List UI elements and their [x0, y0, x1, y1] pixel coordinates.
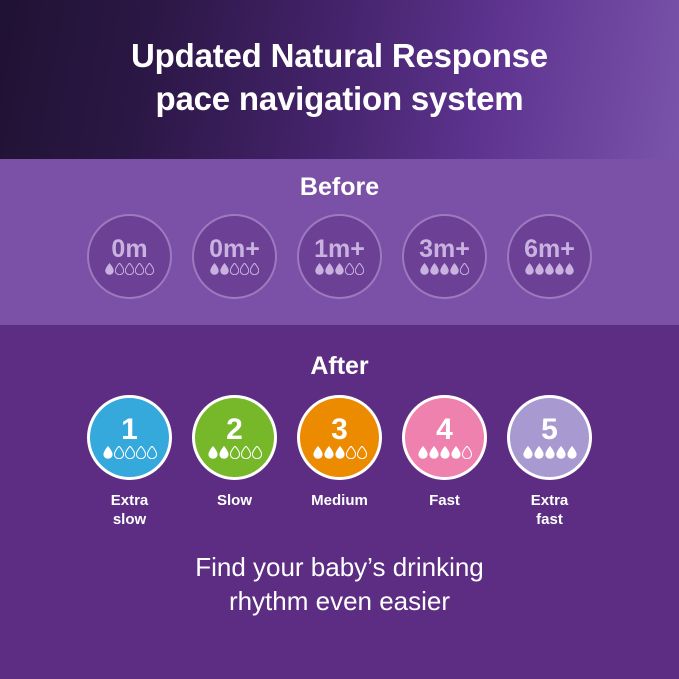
droplet-rating [105, 263, 154, 275]
after-item-label-line-1: Medium [311, 491, 368, 510]
after-item-label-line-1: Fast [429, 491, 460, 510]
droplet-filled-icon [418, 446, 428, 459]
droplet-filled-icon [335, 446, 345, 459]
droplet-outline-icon [462, 446, 472, 459]
droplet-rating [103, 446, 157, 459]
droplet-filled-icon [103, 446, 113, 459]
before-circle: 0m [87, 214, 172, 299]
droplet-filled-icon [565, 263, 574, 275]
before-age-label: 0m [111, 236, 147, 262]
droplet-outline-icon [114, 446, 124, 459]
footer-tagline-line-2: rhythm even easier [0, 584, 679, 618]
droplet-outline-icon [230, 446, 240, 459]
after-circle: 5 [507, 395, 592, 480]
after-item-label-line-1: Slow [217, 491, 252, 510]
droplet-outline-icon [355, 263, 364, 275]
after-step-number: 5 [541, 415, 558, 445]
droplet-filled-icon [324, 446, 334, 459]
before-section-title: Before [0, 173, 679, 202]
droplet-rating [210, 263, 259, 275]
before-circle: 0m+ [192, 214, 277, 299]
before-age-label: 0m+ [209, 236, 260, 262]
page-title-line-2: pace navigation system [0, 77, 679, 120]
droplet-filled-icon [525, 263, 534, 275]
droplet-outline-icon [460, 263, 469, 275]
droplet-outline-icon [252, 446, 262, 459]
before-age-label: 6m+ [524, 236, 575, 262]
after-circle: 4 [402, 395, 487, 480]
after-section: After 1Extraslow2Slow3Medium4Fast5Extraf… [0, 325, 679, 679]
droplet-outline-icon [147, 446, 157, 459]
before-item: 6m+ [507, 214, 592, 299]
page-title-line-1: Updated Natural Response [0, 34, 679, 77]
before-circle: 1m+ [297, 214, 382, 299]
droplet-filled-icon [440, 446, 450, 459]
before-age-label: 3m+ [419, 236, 470, 262]
droplet-filled-icon [429, 446, 439, 459]
droplet-filled-icon [208, 446, 218, 459]
before-item: 0m [87, 214, 172, 299]
after-item-label: Extraslow [111, 491, 149, 529]
droplet-filled-icon [219, 446, 229, 459]
droplet-filled-icon [523, 446, 533, 459]
after-step-number: 4 [436, 415, 453, 445]
droplet-filled-icon [105, 263, 114, 275]
footer-tagline-line-1: Find your baby’s drinking [0, 550, 679, 584]
before-item: 0m+ [192, 214, 277, 299]
droplet-outline-icon [250, 263, 259, 275]
before-circle: 6m+ [507, 214, 592, 299]
droplet-filled-icon [220, 263, 229, 275]
droplet-outline-icon [346, 446, 356, 459]
before-items-row: 0m0m+1m+3m+6m+ [0, 214, 679, 299]
header-banner: Updated Natural Response pace navigation… [0, 0, 679, 159]
droplet-filled-icon [534, 446, 544, 459]
after-item: 3Medium [297, 395, 382, 510]
page-title: Updated Natural Response pace navigation… [0, 34, 679, 120]
after-step-number: 1 [121, 415, 138, 445]
after-item-label: Slow [217, 491, 252, 510]
after-circle: 2 [192, 395, 277, 480]
droplet-outline-icon [136, 446, 146, 459]
droplet-rating [315, 263, 364, 275]
after-item-label-line-1: Extra [111, 491, 149, 510]
after-item: 5Extrafast [507, 395, 592, 529]
droplet-outline-icon [240, 263, 249, 275]
droplet-rating [208, 446, 262, 459]
droplet-outline-icon [241, 446, 251, 459]
after-circle: 3 [297, 395, 382, 480]
after-item-label-line-2: fast [531, 510, 569, 529]
droplet-filled-icon [313, 446, 323, 459]
droplet-outline-icon [125, 263, 134, 275]
droplet-outline-icon [125, 446, 135, 459]
before-circle: 3m+ [402, 214, 487, 299]
after-items-row: 1Extraslow2Slow3Medium4Fast5Extrafast [0, 395, 679, 529]
droplet-filled-icon [420, 263, 429, 275]
droplet-filled-icon [555, 263, 564, 275]
after-item-label-line-1: Extra [531, 491, 569, 510]
after-item: 1Extraslow [87, 395, 172, 529]
infographic-poster: Updated Natural Response pace navigation… [0, 0, 679, 679]
droplet-filled-icon [535, 263, 544, 275]
droplet-filled-icon [451, 446, 461, 459]
after-item: 4Fast [402, 395, 487, 510]
droplet-outline-icon [135, 263, 144, 275]
droplet-outline-icon [115, 263, 124, 275]
droplet-rating [420, 263, 469, 275]
after-item-label: Medium [311, 491, 368, 510]
droplet-filled-icon [567, 446, 577, 459]
before-section: Before 0m0m+1m+3m+6m+ [0, 159, 679, 325]
droplet-rating [313, 446, 367, 459]
after-circle: 1 [87, 395, 172, 480]
before-age-label: 1m+ [314, 236, 365, 262]
after-item-label: Extrafast [531, 491, 569, 529]
after-item: 2Slow [192, 395, 277, 510]
footer-tagline: Find your baby’s drinking rhythm even ea… [0, 550, 679, 618]
droplet-rating [418, 446, 472, 459]
droplet-outline-icon [345, 263, 354, 275]
droplet-rating [523, 446, 577, 459]
droplet-filled-icon [315, 263, 324, 275]
droplet-filled-icon [440, 263, 449, 275]
before-item: 3m+ [402, 214, 487, 299]
droplet-filled-icon [210, 263, 219, 275]
after-item-label: Fast [429, 491, 460, 510]
after-step-number: 3 [331, 415, 348, 445]
droplet-filled-icon [545, 263, 554, 275]
droplet-outline-icon [357, 446, 367, 459]
after-item-label-line-2: slow [111, 510, 149, 529]
droplet-filled-icon [556, 446, 566, 459]
after-section-title: After [0, 352, 679, 381]
droplet-filled-icon [545, 446, 555, 459]
droplet-filled-icon [430, 263, 439, 275]
droplet-filled-icon [450, 263, 459, 275]
droplet-rating [525, 263, 574, 275]
after-step-number: 2 [226, 415, 243, 445]
droplet-filled-icon [335, 263, 344, 275]
droplet-filled-icon [325, 263, 334, 275]
droplet-outline-icon [230, 263, 239, 275]
before-item: 1m+ [297, 214, 382, 299]
droplet-outline-icon [145, 263, 154, 275]
